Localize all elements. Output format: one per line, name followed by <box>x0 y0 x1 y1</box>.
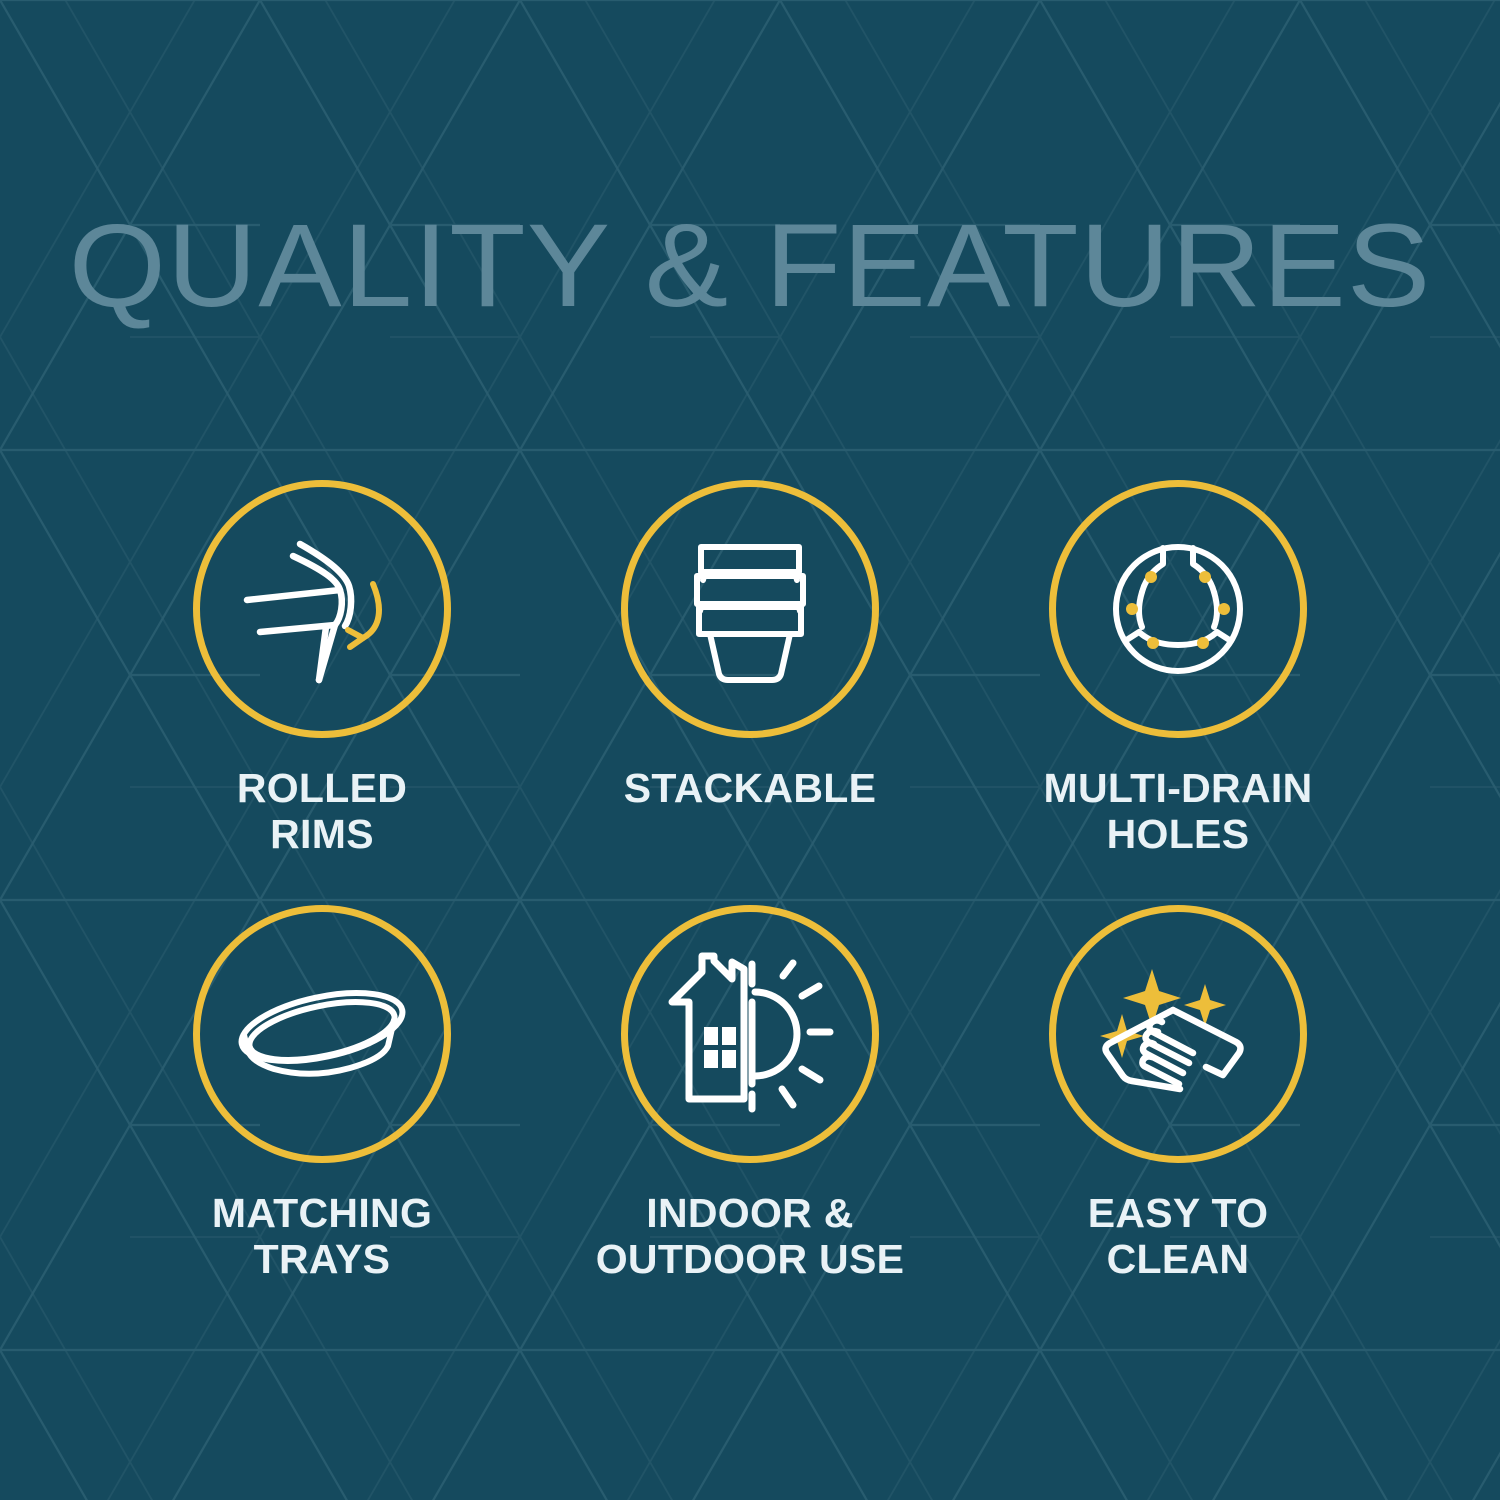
feature-label: EASY TO CLEAN <box>1088 1191 1269 1283</box>
feature-label: MULTI-DRAIN HOLES <box>1044 766 1313 858</box>
feature-icon-circle <box>1049 480 1307 738</box>
feature-item-matching-trays[interactable]: MATCHING TRAYS <box>108 905 536 1330</box>
feature-item-indoor-outdoor-use[interactable]: INDOOR & OUTDOOR USE <box>536 905 964 1330</box>
drain-holes-icon <box>1083 514 1273 704</box>
feature-label: MATCHING TRAYS <box>212 1191 432 1283</box>
feature-item-easy-to-clean[interactable]: EASY TO CLEAN <box>964 905 1392 1330</box>
page-title: QUALITY & FEATURES <box>0 207 1500 325</box>
house-sun-icon <box>652 939 848 1129</box>
feature-icon-circle <box>193 480 451 738</box>
feature-label: STACKABLE <box>624 766 876 812</box>
feature-label: ROLLED RIMS <box>237 766 407 858</box>
feature-grid: ROLLED RIMS STACKABLE <box>108 480 1392 1330</box>
quality-and-features-panel: QUALITY & FEATURES <box>0 0 1500 1500</box>
feature-item-stackable[interactable]: STACKABLE <box>536 480 964 905</box>
feature-item-rolled-rims[interactable]: ROLLED RIMS <box>108 480 536 905</box>
tray-saucer-icon <box>222 934 422 1134</box>
feature-item-multi-drain-holes[interactable]: MULTI-DRAIN HOLES <box>964 480 1392 905</box>
feature-icon-circle <box>1049 905 1307 1163</box>
feature-icon-circle <box>621 905 879 1163</box>
hand-wiping-sparkle-icon <box>1080 939 1276 1129</box>
feature-icon-circle <box>193 905 451 1163</box>
rolled-rim-icon <box>227 514 417 704</box>
feature-label: INDOOR & OUTDOOR USE <box>596 1191 905 1283</box>
stacked-pots-icon <box>655 514 845 704</box>
feature-icon-circle <box>621 480 879 738</box>
